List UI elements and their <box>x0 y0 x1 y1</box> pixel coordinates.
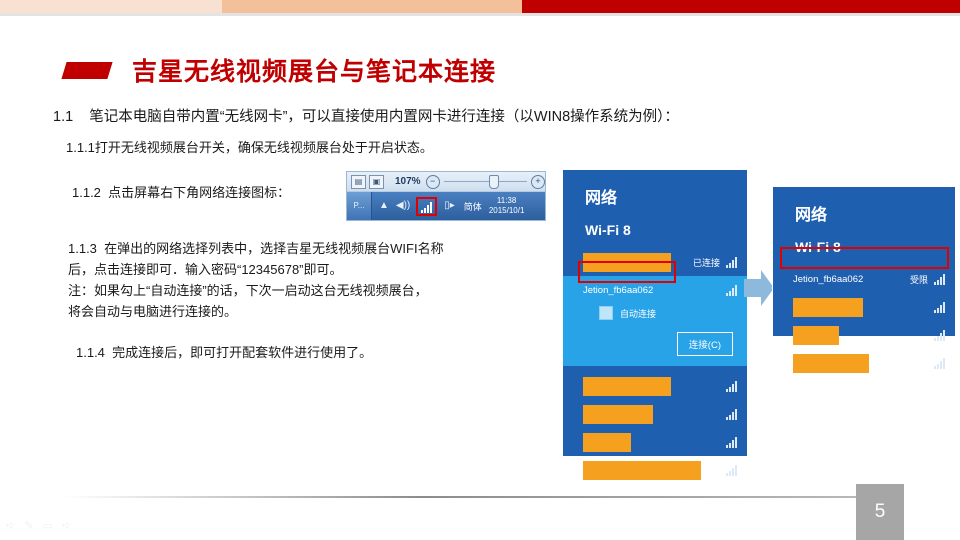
network-row[interactable] <box>563 428 747 456</box>
paragraph-1-1: 1.1 笔记本电脑自带内置“无线网卡”，可以直接使用内置网卡进行连接（以WIN8… <box>53 106 679 128</box>
network-row[interactable] <box>563 372 747 400</box>
signal-strength-icon <box>726 285 737 296</box>
network-flyout-heading: 网络 <box>795 201 955 225</box>
highlighted-ssid-label: Jetion_fb6aa062 <box>793 274 863 285</box>
show-hidden-icons-icon[interactable]: ▲ <box>379 201 389 211</box>
network-flyout-before: 网络 Wi-Fi 8 已连接 Jetion_fb6aa062 自动连接 连接(C… <box>563 170 747 456</box>
ssid-redaction <box>583 405 653 424</box>
connect-button-row: 连接(C) <box>563 320 747 356</box>
signal-strength-icon <box>726 437 737 448</box>
zoom-out-button[interactable]: − <box>426 175 440 189</box>
network-flyout-heading: 网络 <box>585 184 747 208</box>
pen-icon: ✎ <box>24 519 33 532</box>
zoom-slider[interactable] <box>444 181 527 182</box>
pointer-icon: ➪ <box>62 519 71 532</box>
selected-ssid-label: Jetion_fb6aa062 <box>583 285 653 296</box>
footer-icon-strip: ➪ ✎ ▭ ➪ <box>6 519 71 532</box>
ssid-redaction <box>793 354 869 373</box>
ssid-redaction <box>583 377 671 396</box>
autoconnect-checkbox[interactable] <box>599 306 613 320</box>
wifi-signal-icon[interactable] <box>416 197 437 216</box>
banner-band-red <box>522 0 960 13</box>
signal-strength-icon <box>726 257 737 268</box>
title-row: 吉星无线视频展台与笔记本连接 <box>64 52 496 88</box>
title-accent-shape <box>61 62 112 79</box>
ssid-redaction <box>583 253 671 272</box>
signal-strength-icon <box>726 381 737 392</box>
action-center-icon[interactable]: ▯▸ <box>444 201 455 211</box>
network-row-selected[interactable]: Jetion_fb6aa062 自动连接 连接(C) <box>563 276 747 366</box>
signal-strength-icon <box>934 358 945 369</box>
connection-status-label: 受限 <box>910 273 928 286</box>
clock-time: 11:38 <box>489 196 525 206</box>
taskbar-screenshot: ▤ ▣ 107% − + P... ▲ ◀)) ▯▸ 简体 11:38 2015… <box>346 171 546 221</box>
autoconnect-option[interactable]: 自动连接 <box>563 304 747 320</box>
ssid-redaction <box>583 433 631 452</box>
signal-strength-icon <box>934 302 945 313</box>
screen-icon: ▭ <box>42 519 52 532</box>
network-row[interactable] <box>773 293 955 321</box>
network-row[interactable] <box>563 400 747 428</box>
autoconnect-label: 自动连接 <box>620 307 656 320</box>
network-row[interactable] <box>563 456 747 484</box>
page-title: 吉星无线视频展台与笔记本连接 <box>132 52 496 88</box>
volume-icon[interactable]: ◀)) <box>396 201 410 211</box>
zoom-toolbar: ▤ ▣ 107% − + <box>347 172 545 192</box>
taskbar-app-button[interactable]: P... <box>347 192 372 220</box>
signal-strength-icon <box>934 330 945 341</box>
network-row[interactable] <box>773 349 955 377</box>
banner-band-medium <box>222 0 522 13</box>
network-row[interactable] <box>773 321 955 349</box>
clock-area[interactable]: 11:38 2015/10/1 <box>489 196 525 216</box>
network-adapter-label: Wi-Fi 8 <box>585 222 747 238</box>
network-row-connected[interactable]: 已连接 <box>563 248 747 276</box>
paragraph-1-1-4: 1.1.4 完成连接后，即可打开配套软件进行使用了。 <box>76 343 372 363</box>
selected-ssid-row[interactable]: Jetion_fb6aa062 <box>563 276 747 304</box>
system-tray: P... ▲ ◀)) ▯▸ 简体 11:38 2015/10/1 <box>347 192 545 220</box>
page-number-badge: 5 <box>856 484 904 540</box>
footer-divider <box>64 496 856 498</box>
ssid-redaction <box>793 326 839 345</box>
network-flyout-after: 网络 Wi-Fi 8 Jetion_fb6aa062 受限 <box>772 186 956 337</box>
zoom-level-label: 107% <box>395 176 421 187</box>
zoom-slider-handle[interactable] <box>489 175 499 189</box>
top-banner <box>0 0 960 13</box>
view-normal-icon[interactable]: ▤ <box>351 175 366 189</box>
network-adapter-label: Wi-Fi 8 <box>795 239 955 255</box>
ssid-redaction <box>583 461 701 480</box>
view-reading-icon[interactable]: ▣ <box>369 175 384 189</box>
paragraph-1-1-2: 1.1.2 点击屏幕右下角网络连接图标： <box>72 183 290 203</box>
zoom-in-button[interactable]: + <box>531 175 545 189</box>
connection-status-label: 已连接 <box>693 256 720 269</box>
pointer-icon: ➪ <box>6 519 15 532</box>
flow-arrow-icon <box>744 268 774 308</box>
banner-underline <box>0 13 960 16</box>
ssid-redaction <box>793 298 863 317</box>
signal-strength-icon <box>934 274 945 285</box>
signal-strength-icon <box>726 465 737 476</box>
paragraph-1-1-1: 1.1.1打开无线视频展台开关，确保无线视频展台处于开启状态。 <box>66 138 433 158</box>
connect-button[interactable]: 连接(C) <box>677 332 733 356</box>
banner-band-light <box>0 0 222 13</box>
network-row-highlighted[interactable]: Jetion_fb6aa062 受限 <box>773 265 955 293</box>
ime-indicator[interactable]: 简体 <box>464 200 482 213</box>
paragraph-1-1-3: 1.1.3 在弹出的网络选择列表中，选择吉星无线视频展台WIFI名称 后，点击连… <box>68 238 444 322</box>
clock-date: 2015/10/1 <box>489 206 525 216</box>
signal-strength-icon <box>726 409 737 420</box>
